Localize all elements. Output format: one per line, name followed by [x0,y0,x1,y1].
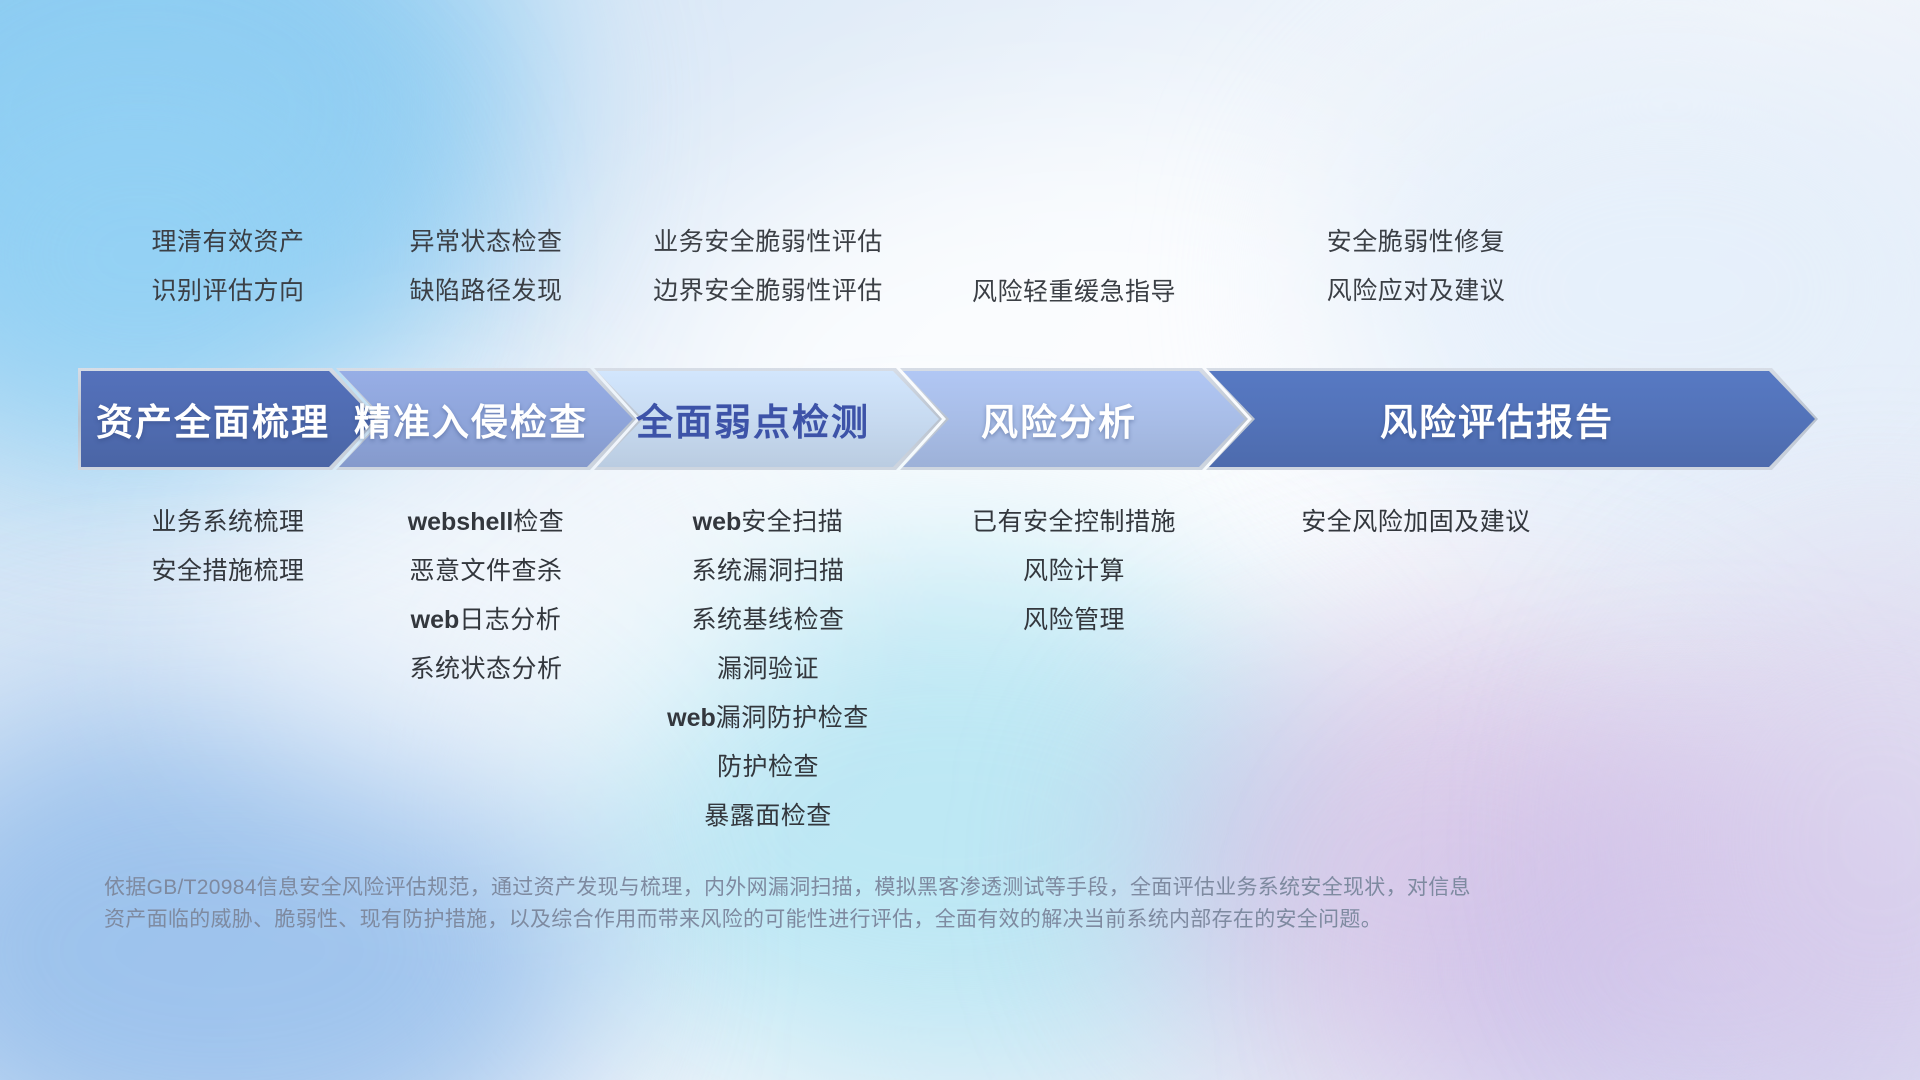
chevron-title-risk-analysis: 风险分析 [900,392,1248,446]
chevron-title-intrusion-check: 精准入侵检查 [336,392,636,446]
bottom-list-item-latin: web [693,508,742,536]
bottom-list-item-cn: 已有安全控制措施 [972,508,1176,536]
footer-line-2: 资产面临的威胁、脆弱性、现有防护措施，以及综合作用而带来风险的可能性进行评估，全… [104,904,1664,936]
bottom-list-item-cn: 风险管理 [1023,606,1125,634]
chevron-title-risk-report: 风险评估报告 [1206,392,1818,446]
bottom-list-item-cn: 漏洞防护检查 [716,704,869,732]
bottom-list-item-latin: webshell [408,508,514,536]
top-label-risk-analysis-1: 风险轻重缓急指导 [972,280,1176,305]
bottom-list-risk-report: 安全风险加固及建议 [1156,510,1676,559]
chevron-flow-band: 资产全面梳理精准入侵检查全面弱点检测风险分析风险评估报告 [0,368,1920,470]
chevron-stage-intrusion-check[interactable]: 精准入侵检查 [336,368,636,470]
top-label-weakness-detection-1: 业务安全脆弱性评估 [653,230,883,255]
bottom-list-item-cn: 安全风险加固及建议 [1301,508,1531,536]
footer-description: 依据GB/T20984信息安全风险评估规范，通过资产发现与梳理，内外网漏洞扫描，… [104,872,1664,936]
chevron-stage-risk-report[interactable]: 风险评估报告 [1206,368,1818,470]
bottom-list-item-cn: 防护检查 [717,753,819,781]
process-diagram: 理清有效资产识别评估方向异常状态检查缺陷路径发现业务安全脆弱性评估边界安全脆弱性… [0,0,1920,1080]
bottom-list-item: 防护检查 [717,755,819,780]
bottom-list-item: 风险管理 [1023,608,1125,633]
bottom-list-item: 风险计算 [1023,559,1125,584]
chevron-stage-asset-inventory[interactable]: 资产全面梳理 [78,368,378,470]
bottom-list-item-cn: 风险计算 [1023,557,1125,585]
top-label-group-risk-report: 安全脆弱性修复风险应对及建议 [1156,230,1676,328]
bottom-list-item: 安全风险加固及建议 [1301,510,1531,535]
bottom-list-item: 暴露面检查 [704,804,832,829]
footer-line-1: 依据GB/T20984信息安全风险评估规范，通过资产发现与梳理，内外网漏洞扫描，… [104,872,1664,904]
bottom-list-item-latin: web [667,704,716,732]
bottom-list-item-cn: 暴露面检查 [704,802,832,830]
chevron-stage-risk-analysis[interactable]: 风险分析 [900,368,1248,470]
chevron-title-weakness-detection: 全面弱点检测 [594,392,942,446]
bottom-list-item-cn: 漏洞验证 [717,655,819,683]
bottom-list-item-latin: web [411,606,460,634]
top-labels-row: 理清有效资产识别评估方向异常状态检查缺陷路径发现业务安全脆弱性评估边界安全脆弱性… [0,230,1920,360]
bottom-list-item: 漏洞验证 [717,657,819,682]
bottom-list-item: web漏洞防护检查 [667,706,869,731]
top-label-risk-report-1: 安全脆弱性修复 [1327,230,1506,255]
bottom-list-item: 已有安全控制措施 [972,510,1176,535]
chevron-stage-weakness-detection[interactable]: 全面弱点检测 [594,368,942,470]
top-label-risk-report-2: 风险应对及建议 [1327,279,1506,304]
chevron-title-asset-inventory: 资产全面梳理 [78,392,378,446]
